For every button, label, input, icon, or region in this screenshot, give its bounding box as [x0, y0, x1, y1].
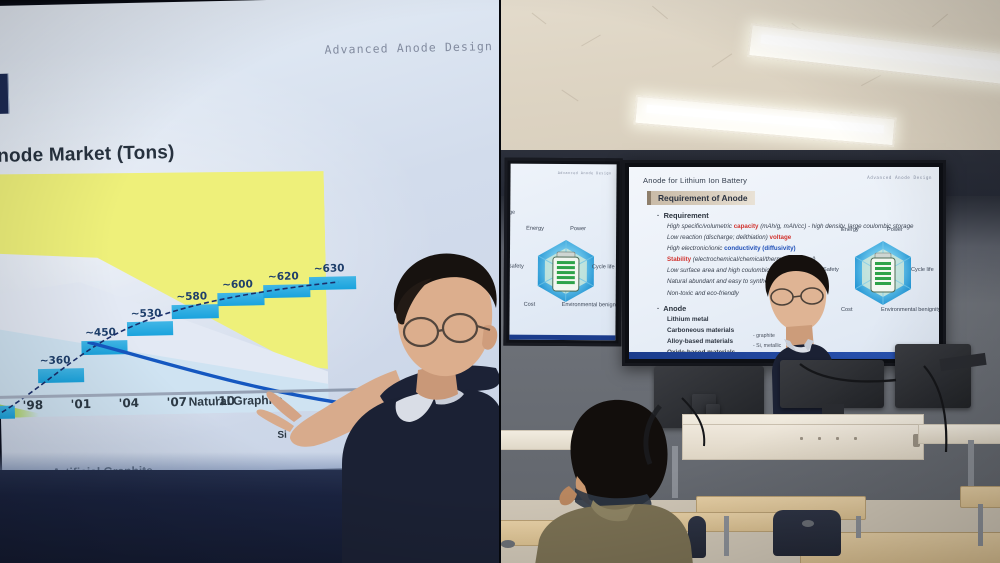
left-panel-slide-closeup: Advanced Anode Design Anode Market (Tons…	[0, 0, 500, 563]
desk-leg	[724, 516, 729, 556]
hexagon-label-cyclelife: Cycle life	[592, 264, 615, 270]
right-panel-classroom: Advanced Anode Design rage	[500, 0, 1000, 563]
bar-label-450: ~450	[85, 326, 116, 339]
xtick-07: '07	[167, 395, 188, 409]
panel-divider	[499, 0, 501, 563]
xtick-01: '01	[71, 397, 92, 411]
hexagon-label-cost: Cost	[524, 302, 536, 308]
bar-360	[38, 368, 84, 383]
presenter-pointing	[246, 250, 500, 563]
secondary-hexagon-diagram: Energy Power Cycle life Environmental be…	[514, 220, 617, 321]
secondary-partial-text: rage	[509, 210, 515, 216]
desk-leg	[978, 504, 983, 546]
slide-title: Anode for Lithium Ion Battery	[643, 176, 747, 185]
bar-580b	[172, 304, 219, 319]
hexagon-label-environmental: Environmental benignity	[881, 307, 931, 314]
bar-edge	[0, 406, 15, 419]
photo-canvas: Advanced Anode Design Anode Market (Tons…	[0, 0, 1000, 563]
bullet-heading-requirement-text: Requirement	[664, 211, 709, 220]
chair-handle-hole	[501, 540, 515, 548]
hexagon-label-cyclelife: Cycle life	[911, 267, 934, 273]
classroom-chair[interactable]	[773, 510, 841, 556]
hexagon-label-energy: Energy	[526, 226, 544, 232]
bar-label-580: ~580	[176, 290, 207, 303]
secondary-display-content: Advanced Anode Design rage	[509, 164, 616, 341]
slide-section-banner: Requirement of Anode	[647, 191, 755, 205]
bar-530b	[127, 321, 173, 336]
hexagon-label-power: Power	[887, 227, 903, 233]
hexagon-label-environmental: Environmental benignity	[562, 302, 614, 308]
hexagon-label-safety: Safety	[509, 264, 523, 270]
secondary-display: Advanced Anode Design rage	[503, 158, 622, 347]
chair-handle-hole	[802, 520, 814, 527]
secondary-slide-watermark: Advanced Anode Design	[558, 171, 612, 175]
bullet-heading-requirement: · Requirement	[657, 211, 866, 220]
desk-leg	[856, 516, 861, 538]
hexagon-label-energy: Energy	[841, 227, 859, 233]
chart-title: Anode Market (Tons)	[0, 142, 175, 168]
slide-watermark: Advanced Anode Design	[867, 176, 932, 181]
slide-corner-block	[0, 74, 9, 115]
xtick-10: '10	[215, 394, 236, 408]
slide-section-banner-text: Requirement of Anode	[658, 193, 748, 203]
bullet-heading-anode-text: Anode	[663, 304, 686, 313]
hexagon-label-power: Power	[570, 226, 586, 232]
cable-run	[500, 340, 1000, 480]
bar-label-360: ~360	[40, 354, 71, 367]
bar-label-530: ~530	[131, 307, 162, 320]
xtick-04: '04	[119, 396, 140, 410]
xtick-98: '98	[23, 398, 44, 412]
